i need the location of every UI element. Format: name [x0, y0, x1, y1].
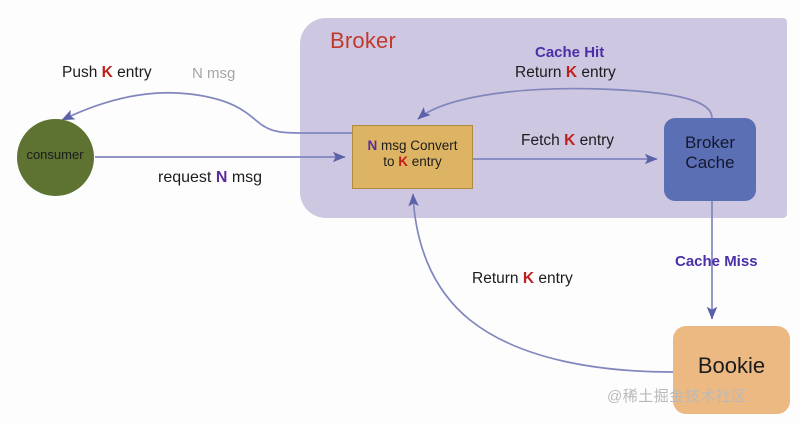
edge-cache-hit-return [418, 89, 712, 119]
node-consumer[interactable] [17, 119, 94, 196]
node-broker-cache[interactable] [664, 118, 756, 201]
edge-return-k-entry [413, 194, 673, 372]
diagram-canvas: Broker consumer N msg Convert to K entry… [0, 0, 800, 424]
edge-push-k-entry [62, 93, 300, 133]
watermark: @稀土掘金技术社区 [607, 385, 747, 406]
node-convert[interactable] [352, 125, 473, 189]
